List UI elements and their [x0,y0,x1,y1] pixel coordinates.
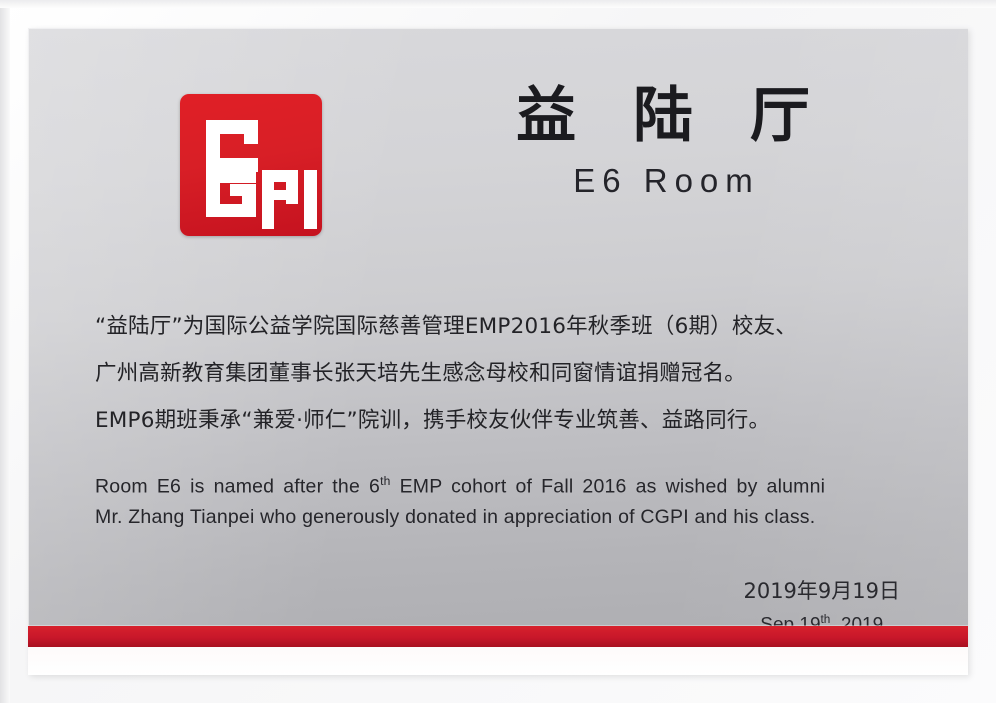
description-cn-line-1: “益陆厅”为国际公益学院国际慈善管理EMP2016年秋季班（6期）校友、 [95,303,905,350]
room-name-cn: 益 陆 厅 [428,86,898,146]
frame-left-shadow [0,0,10,703]
cgpi-logo [180,94,322,236]
description-en-line-1: Room E6 is named after the 6th EMP cohor… [95,466,925,502]
plaque-surface: 益 陆 厅 E6 Room “益陆厅”为国际公益学院国际慈善管理EMP2016年… [28,28,968,675]
date-chinese: 2019年9月19日 [743,576,900,606]
room-name-en: E6 Room [428,162,898,200]
plaque-bottom-margin [28,647,968,675]
title-block: 益 陆 厅 E6 Room [428,86,898,200]
plaque-image: 益 陆 厅 E6 Room “益陆厅”为国际公益学院国际慈善管理EMP2016年… [0,0,996,703]
accent-bar [28,626,968,647]
description-en-line-1-pre: Room E6 is named after the 6 [95,476,380,498]
description-en-line-2-pre: Mr. Zhang Tianpei who generously donated… [95,506,815,528]
frame-top-shadow [0,0,996,8]
description-en-line-1-post: EMP cohort of Fall 2016 as wished by alu… [391,476,826,498]
description-cn-line-2: 广州高新教育集团董事长张天培先生感念母校和同窗情谊捐赠冠名。 [95,350,905,397]
plaque-header: 益 陆 厅 E6 Room [28,28,968,243]
description-chinese: “益陆厅”为国际公益学院国际慈善管理EMP2016年秋季班（6期）校友、 广州高… [95,303,905,444]
description-cn-line-3: EMP6期班秉承“兼爱·师仁”院训，携手校友伙伴专业筑善、益路同行。 [95,397,905,444]
date-ordinal-sup: th [821,613,831,626]
ordinal-suffix-sup: th [380,474,390,488]
description-english: Room E6 is named after the 6th EMP cohor… [95,466,925,532]
description-en-line-2: Mr. Zhang Tianpei who generously donated… [95,502,925,532]
